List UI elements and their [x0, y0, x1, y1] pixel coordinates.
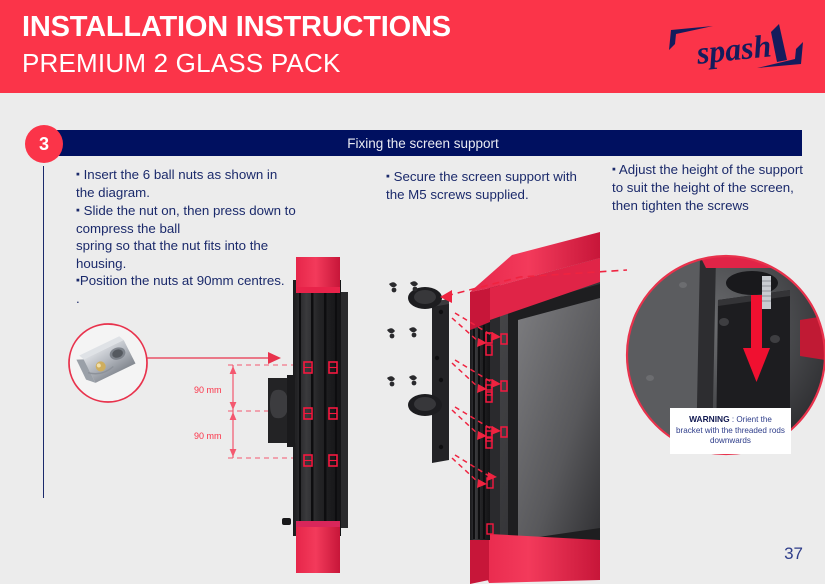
assembly-arrows	[452, 313, 493, 483]
column-divider	[43, 166, 44, 498]
bullet-icon: ▪	[76, 204, 80, 216]
list-item: spring so that the nut fits into the hou…	[76, 237, 296, 272]
list-item: ▪Position the nuts at 90mm centres.	[76, 272, 296, 290]
bullet-icon: ▪	[386, 171, 390, 183]
list-item-text: Position the nuts at 90mm centres.	[80, 273, 285, 288]
list-item-text: Insert the 6 ball nuts as shown in the d…	[76, 167, 277, 200]
down-arrow-icon	[743, 295, 770, 382]
page-title: INSTALLATION INSTRUCTIONS	[22, 10, 451, 44]
warning-box: WARNING : Orient the bracket with the th…	[670, 408, 791, 454]
list-item-text: .	[76, 291, 80, 306]
list-item: ▪ Insert the 6 ball nuts as shown in the…	[76, 166, 296, 202]
spash-logo: spash	[661, 12, 811, 82]
dimension-label: 90 mm	[194, 385, 222, 395]
list-item: ▪ Slide the nut on, then press down to c…	[76, 202, 296, 238]
wall-screw-icon	[387, 281, 418, 386]
list-item-text: Slide the nut on, then press down to com…	[76, 203, 296, 236]
screen-assembly-exploded	[387, 232, 627, 584]
wall-bracket	[408, 287, 449, 463]
assembly-arrow-heads	[477, 332, 501, 488]
instruction-page: INSTALLATION INSTRUCTIONS PREMIUM 2 GLAS…	[0, 0, 825, 584]
list-item: ▪ Secure the screen support with the M5 …	[386, 168, 591, 204]
page-subtitle: PREMIUM 2 GLASS PACK	[22, 47, 451, 79]
step-title-bar: Fixing the screen support	[44, 130, 802, 156]
bullet-icon: ▪	[76, 169, 80, 181]
page-number: 37	[784, 544, 803, 564]
list-item-text: spring so that the nut fits into the hou…	[76, 238, 268, 271]
ball-nut-callout	[69, 324, 281, 402]
detail-callout-line	[440, 270, 627, 303]
page-header: INSTALLATION INSTRUCTIONS PREMIUM 2 GLAS…	[0, 0, 825, 93]
instructions-column-middle: ▪ Secure the screen support with the M5 …	[386, 168, 591, 204]
dimension-lines	[228, 365, 296, 458]
instructions-column-left: ▪ Insert the 6 ball nuts as shown in the…	[76, 166, 296, 308]
bullet-icon: ▪	[612, 164, 616, 176]
list-item-text: Adjust the height of the support to suit…	[612, 162, 803, 213]
instructions-column-right: ▪ Adjust the height of the support to su…	[612, 161, 812, 214]
list-item: .	[76, 290, 296, 308]
step-number-badge: 3	[25, 125, 63, 163]
list-item: ▪ Adjust the height of the support to su…	[612, 161, 812, 214]
dimension-label: 90 mm	[194, 431, 222, 441]
list-item-text: Secure the screen support with the M5 sc…	[386, 169, 577, 202]
warning-label: WARNING	[689, 414, 729, 424]
brand-wordmark: spash	[694, 27, 773, 71]
header-titles: INSTALLATION INSTRUCTIONS PREMIUM 2 GLAS…	[22, 10, 451, 79]
